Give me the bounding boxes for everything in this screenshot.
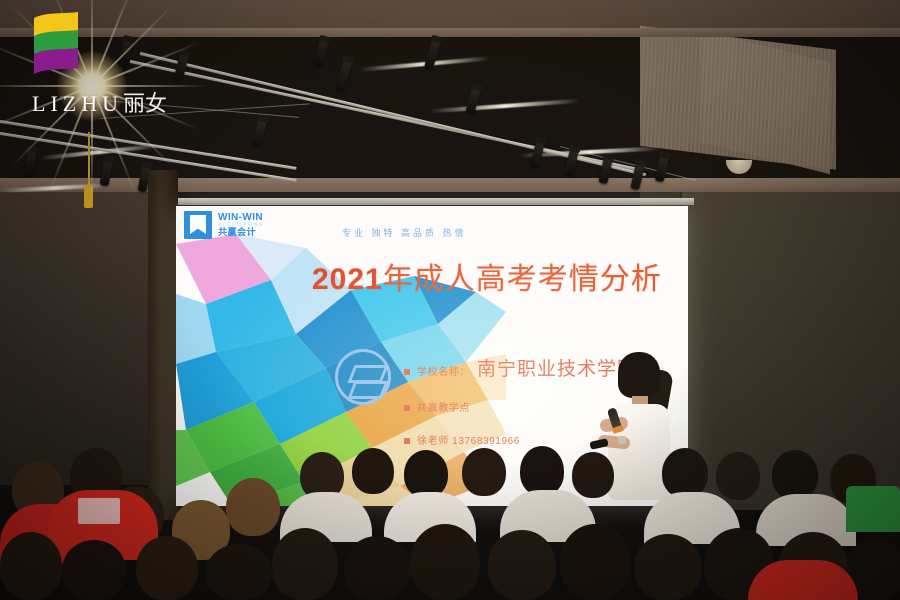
- flag-icon: [30, 12, 82, 78]
- slide-title: 2021年成人高考考情分析: [312, 254, 662, 298]
- left-pillar: [148, 170, 178, 520]
- audience-head: [488, 530, 556, 600]
- slide-title-rest: 年成人高考考情分析: [383, 263, 662, 296]
- presenter-hair: [618, 352, 660, 398]
- brand-name-cn: 共赢会计: [218, 228, 264, 237]
- circle-z-monogram-icon: [335, 349, 391, 405]
- lizhu-watermark: LIZHU丽女: [30, 12, 167, 118]
- ceiling-dark-right: [836, 36, 900, 186]
- presenter-watch: [618, 436, 626, 444]
- yellow-ceiling-fixture: [84, 186, 93, 208]
- audience-head: [560, 524, 630, 600]
- brand-text-block: WIN-WIN ACCOUNTING 共赢会计: [218, 213, 264, 237]
- bullet-label: 徐老师 13768391966: [417, 432, 520, 447]
- audience-head: [410, 524, 480, 600]
- audience-head: [344, 536, 410, 600]
- slide-title-year: 2021: [312, 263, 383, 296]
- audience-head: [62, 540, 126, 600]
- watermark-latin: LIZHU: [32, 91, 123, 116]
- hanging-wire: [88, 132, 90, 188]
- audience-head: [226, 478, 280, 536]
- ceiling-beam-bottom: [0, 178, 900, 192]
- brand-logo: WIN-WIN ACCOUNTING 共赢会计: [184, 211, 264, 239]
- audience-head: [634, 534, 702, 600]
- green-chair: [846, 486, 900, 532]
- audience-head: [462, 448, 506, 496]
- audience-head: [716, 452, 760, 500]
- audience-head: [206, 544, 272, 600]
- audience-head: [772, 450, 818, 500]
- audience-head: [272, 528, 338, 600]
- audience-head: [352, 448, 394, 494]
- audience-head: [404, 450, 448, 498]
- bullet-label: 学校名称：: [417, 363, 470, 378]
- audience-head: [572, 452, 614, 498]
- watermark-text: LIZHU丽女: [32, 86, 167, 118]
- projection-screen-frame: [170, 198, 694, 205]
- audience-head: [662, 448, 708, 498]
- bullet-square-icon: [404, 438, 410, 444]
- left-wall: [0, 185, 152, 485]
- screenshot-root: WIN-WIN ACCOUNTING 共赢会计 专业 独特 高品质 热情 202…: [0, 0, 900, 600]
- watermark-cn: 丽女: [123, 91, 167, 116]
- bullet-square-icon: [404, 405, 410, 411]
- slide-tagline: 专业 独特 高品质 热情: [342, 226, 467, 239]
- audience-head: [520, 446, 564, 496]
- bullet-label: 共赢教学点: [417, 399, 470, 414]
- red-vest-lettering: [78, 498, 120, 524]
- bookmark-ribbon-icon: [184, 211, 212, 239]
- audience-head: [0, 532, 62, 600]
- audience-head: [136, 536, 198, 600]
- bullet-square-icon: [404, 369, 410, 375]
